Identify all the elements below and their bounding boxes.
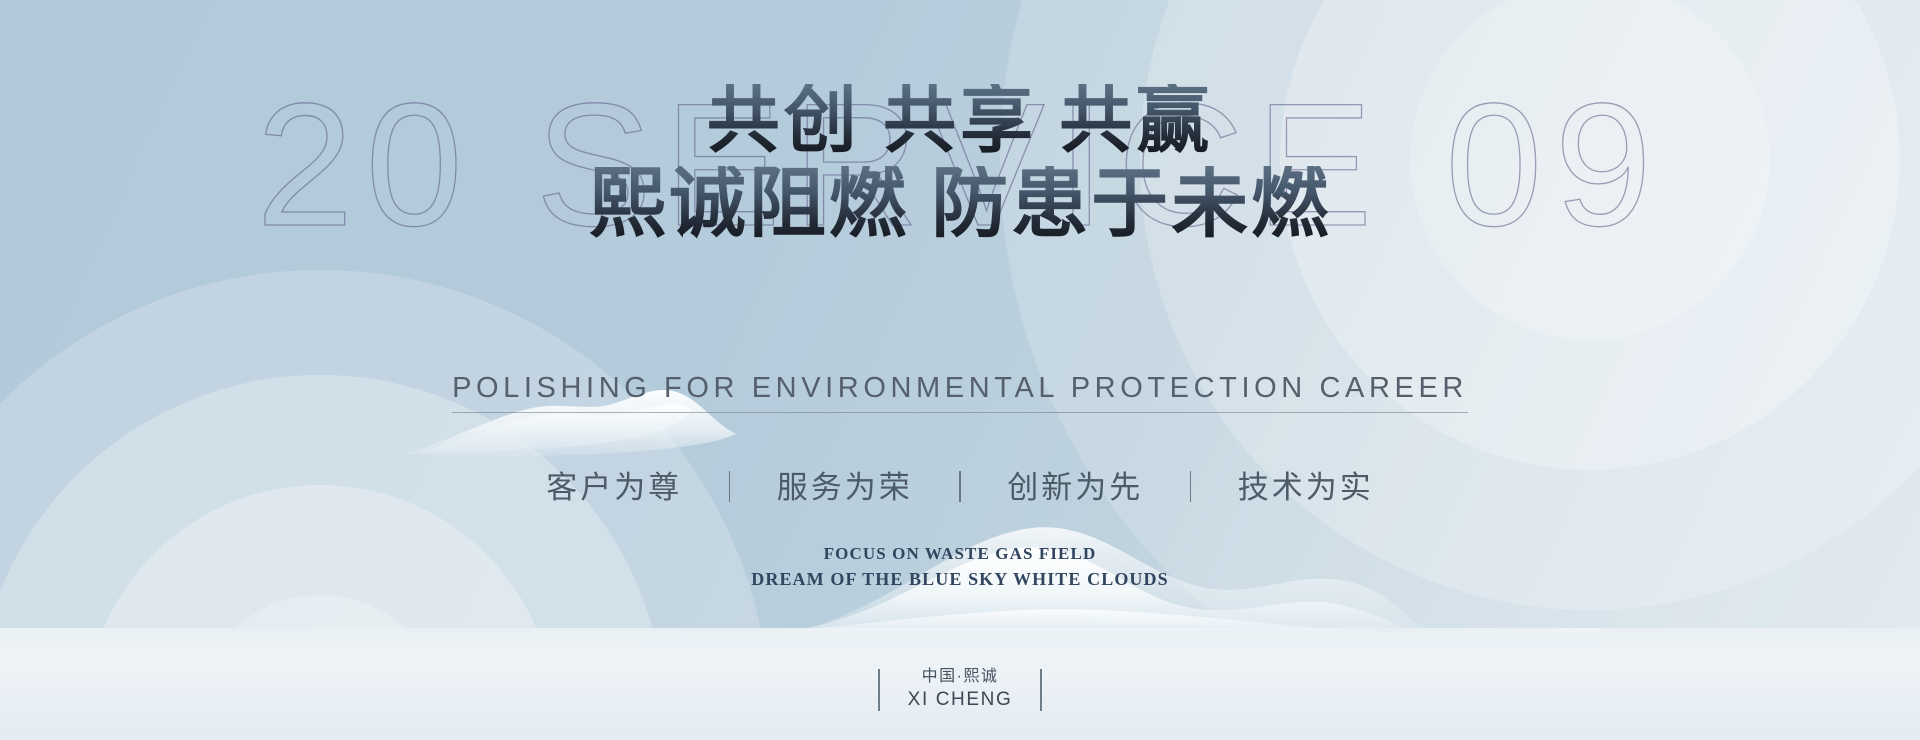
value-item-4: 技术为实 [1238,462,1374,507]
subline-1: FOCUS ON WASTE GAS FIELD [0,544,1920,564]
value-item-2: 服务为荣 [777,462,913,507]
values-row: 客户为尊 服务为荣 创新为先 技术为实 [0,462,1920,507]
logo-right-bar [1040,669,1042,711]
value-separator-1 [729,471,731,502]
tagline-text: POLISHING FOR ENVIRONMENTAL PROTECTION C… [452,372,1468,413]
subline-block: FOCUS ON WASTE GAS FIELD DREAM OF THE BL… [0,544,1920,590]
brand-logo: 中国·熙诚 XI CHENG [0,667,1920,712]
logo-left-bar [878,669,880,711]
logo-english-name: XI CHENG [908,688,1013,712]
headline-line-1: 共创 共享 共赢 [0,84,1920,157]
logo-chinese-name: 中国·熙诚 [908,667,1013,687]
tagline-block: POLISHING FOR ENVIRONMENTAL PROTECTION C… [0,372,1920,413]
promo-banner: 20 SERVICE 09 共创 共享 共赢 熙诚阻燃 防患于未燃 POLISH… [0,0,1920,740]
headline-line-2: 熙诚阻燃 防患于未燃 [0,166,1920,243]
logo-text-group: 中国·熙诚 XI CHENG [908,667,1013,712]
value-separator-3 [1190,471,1192,502]
value-item-1: 客户为尊 [546,462,682,507]
subline-2: DREAM OF THE BLUE SKY WHITE CLOUDS [0,569,1920,590]
base-sweep-shape [640,609,1600,646]
value-separator-2 [959,471,961,502]
headline-block: 共创 共享 共赢 熙诚阻燃 防患于未燃 [0,84,1920,243]
value-item-3: 创新为先 [1007,462,1143,507]
